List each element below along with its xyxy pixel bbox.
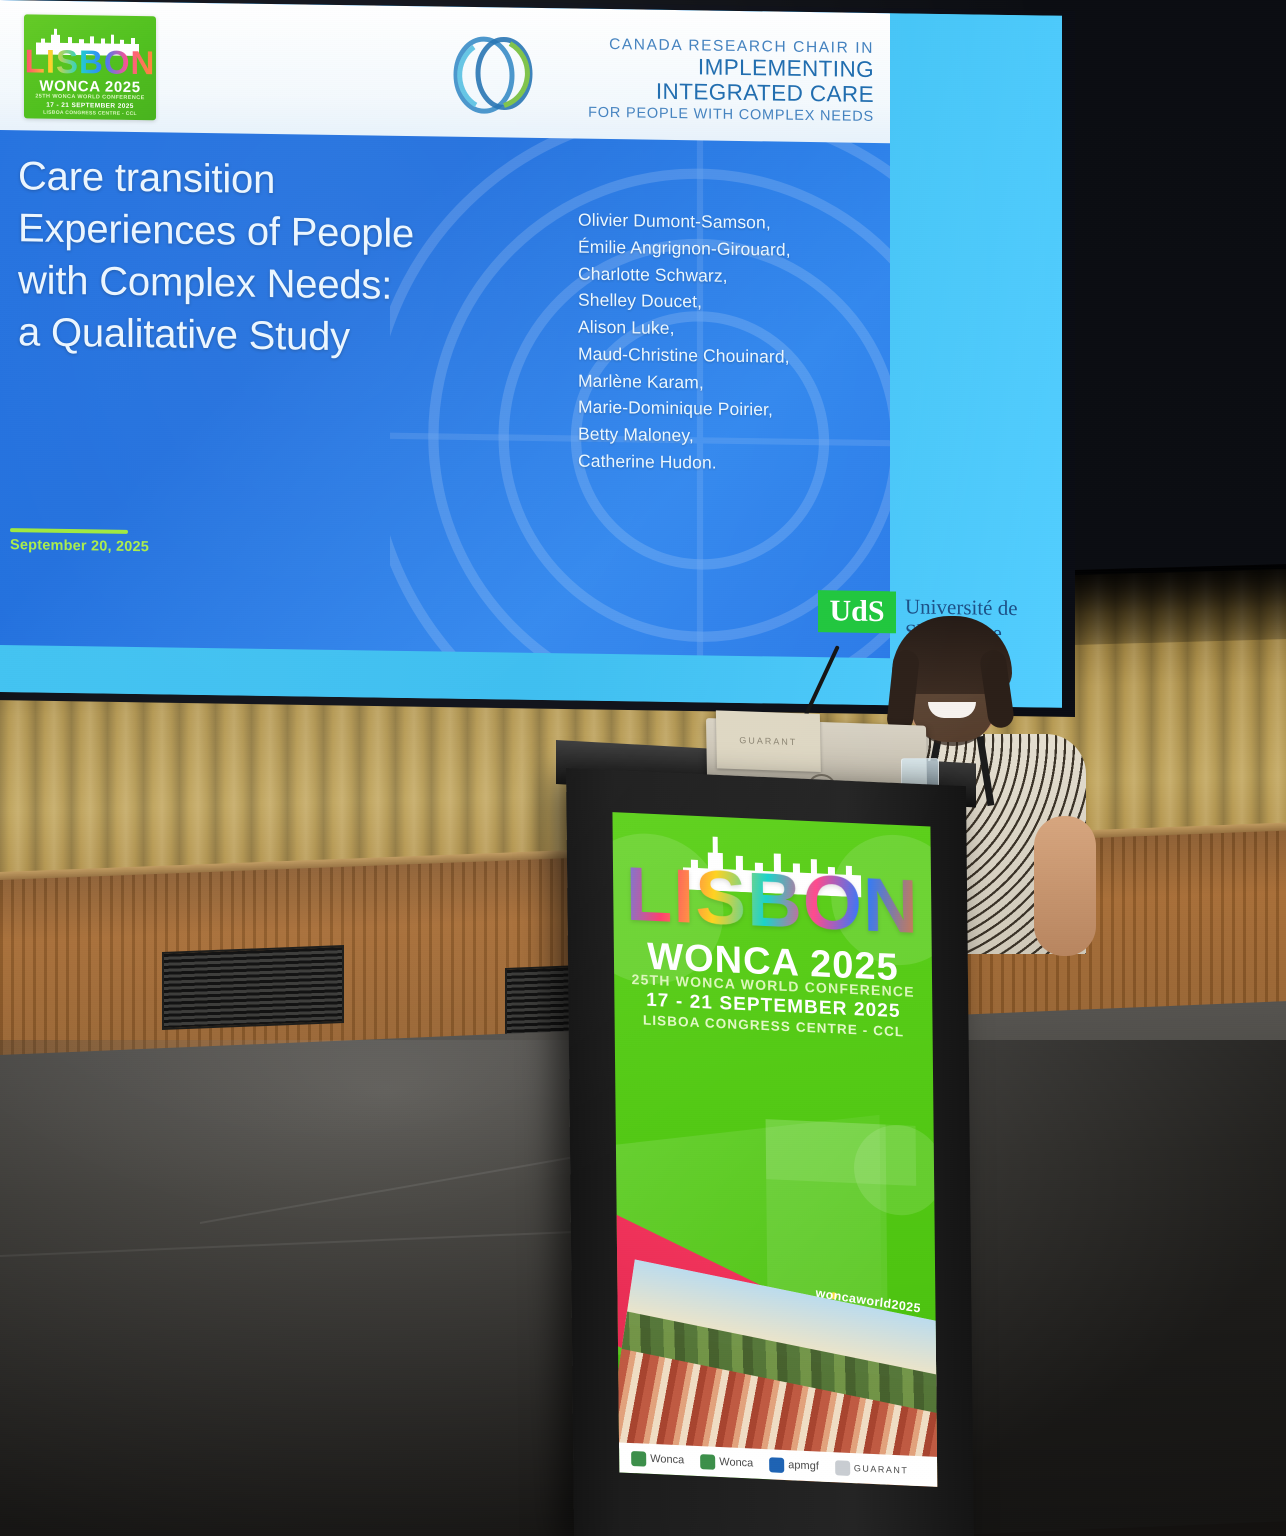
- title-line: Care transition: [18, 150, 518, 209]
- sponsor-logo: Wonca: [700, 1454, 753, 1471]
- sponsor-logo: Wonca: [631, 1450, 684, 1467]
- sponsor-label: Wonca: [719, 1456, 753, 1470]
- lisbon-wonca-logo: LISBON WONCA 2025 25TH WONCA WORLD CONFE…: [24, 14, 156, 120]
- lectern: LISBON WONCA 2025 25TH WONCA WORLD CONFE…: [566, 768, 974, 1536]
- guarant-sign-label: GUARANT: [739, 735, 797, 747]
- title-line: a Qualitative Study: [18, 306, 518, 365]
- sponsor-logo: GUARANT: [835, 1460, 909, 1478]
- lisbon-line3: 25TH WONCA WORLD CONFERENCE: [24, 93, 156, 101]
- author-name: Alison Luke,: [578, 314, 878, 345]
- lisbon-line5: LISBOA CONGRESS CENTRE - CCL: [24, 109, 156, 117]
- sponsor-label: Wonca: [650, 1453, 684, 1467]
- author-name: Maud-Christine Chouinard,: [578, 340, 878, 371]
- canada-research-chair-logo: CANADA RESEARCH CHAIR IN IMPLEMENTING IN…: [452, 29, 872, 125]
- lectern-banner: LISBON WONCA 2025 25TH WONCA WORLD CONFE…: [612, 812, 937, 1487]
- slide-header-band: LISBON WONCA 2025 25TH WONCA WORLD CONFE…: [0, 0, 890, 143]
- guarant-table-sign: GUARANT: [716, 710, 821, 772]
- presentation-slide: LISBON WONCA 2025 25TH WONCA WORLD CONFE…: [0, 0, 890, 658]
- date-divider-rule: [10, 528, 128, 534]
- interlocking-circles-icon: [452, 33, 538, 116]
- sponsor-label: apmgf: [788, 1459, 819, 1472]
- slide-title: Care transition Experiences of People wi…: [18, 150, 518, 365]
- author-name: Catherine Hudon.: [578, 447, 878, 478]
- lisbon-wordmark: LISBON: [24, 44, 156, 79]
- projection-screen: LISBON WONCA 2025 25TH WONCA WORLD CONFE…: [0, 0, 1062, 708]
- wonca-mark-icon: [631, 1450, 646, 1466]
- author-name: Émilie Angrignon-Girouard,: [578, 233, 878, 264]
- crc-line2: IMPLEMENTING INTEGRATED CARE: [544, 53, 874, 107]
- wonca-mark-icon: [700, 1454, 715, 1470]
- presentation-photo: LISBON WONCA 2025 25TH WONCA WORLD CONFE…: [0, 0, 1286, 1536]
- title-line: with Complex Needs:: [18, 254, 518, 313]
- slide-body: Care transition Experiences of People wi…: [0, 130, 890, 658]
- sponsor-logo: apmgf: [769, 1457, 819, 1474]
- research-chair-text: CANADA RESEARCH CHAIR IN IMPLEMENTING IN…: [544, 34, 874, 127]
- author-list: Olivier Dumont-Samson, Émilie Angrignon-…: [578, 207, 878, 479]
- wall-vent: [162, 945, 344, 1030]
- lisbon-wordmark: LISBON: [613, 856, 932, 946]
- guarant-mark-icon: [835, 1460, 850, 1476]
- title-line: Experiences of People: [18, 202, 518, 261]
- speaker-arm: [1034, 816, 1096, 956]
- apmgf-mark-icon: [769, 1457, 784, 1473]
- author-name: Olivier Dumont-Samson,: [578, 207, 878, 238]
- crc-line3: FOR PEOPLE WITH COMPLEX NEEDS: [544, 103, 874, 127]
- sponsor-label: GUARANT: [854, 1463, 909, 1475]
- presentation-date: September 20, 2025: [10, 537, 149, 555]
